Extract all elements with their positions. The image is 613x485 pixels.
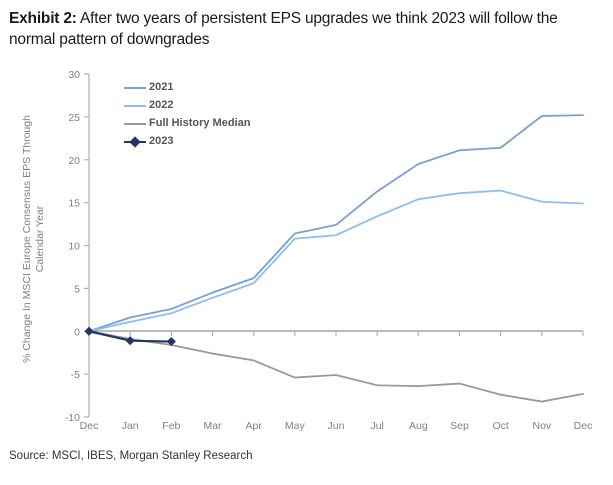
legend-label-2: Full History Median: [149, 117, 250, 129]
chart-svg: -10-5051015202530DecJanFebMarAprMayJunJu…: [0, 58, 613, 433]
legend-swatch-icon-0: [124, 82, 146, 93]
svg-text:-5: -5: [71, 369, 80, 381]
svg-text:Jun: Jun: [328, 420, 345, 432]
source-note: Source: MSCI, IBES, Morgan Stanley Resea…: [9, 450, 253, 462]
svg-text:15: 15: [68, 198, 80, 210]
svg-text:25: 25: [68, 112, 80, 124]
title-text: After two years of persistent EPS upgrad…: [9, 10, 558, 48]
legend-label-1: 2022: [149, 99, 173, 111]
svg-text:Sep: Sep: [450, 420, 469, 432]
svg-text:Oct: Oct: [492, 420, 508, 432]
svg-text:Jul: Jul: [370, 420, 383, 432]
legend-label-0: 2021: [149, 81, 173, 93]
svg-text:Feb: Feb: [162, 420, 180, 432]
svg-text:0: 0: [74, 326, 80, 338]
svg-text:Apr: Apr: [245, 420, 262, 432]
svg-text:May: May: [285, 420, 306, 432]
legend-item-1: 2022: [124, 96, 250, 114]
svg-text:Dec: Dec: [80, 420, 99, 432]
svg-text:Aug: Aug: [409, 420, 428, 432]
svg-text:20: 20: [68, 155, 80, 167]
svg-text:-10: -10: [65, 412, 80, 424]
svg-text:Jan: Jan: [122, 420, 139, 432]
chart-legend: 2021 2022 Full History Median 2023: [124, 78, 250, 150]
legend-item-0: 2021: [124, 78, 250, 96]
svg-text:30: 30: [68, 69, 80, 81]
legend-item-3: 2023: [124, 132, 250, 150]
svg-text:Mar: Mar: [203, 420, 222, 432]
chart-plot-area: % Change In MSCI Europe Consensus EPS Th…: [0, 58, 613, 433]
svg-text:5: 5: [74, 283, 80, 295]
svg-text:10: 10: [68, 241, 80, 253]
svg-text:Nov: Nov: [532, 420, 551, 432]
exhibit-label: Exhibit 2:: [9, 10, 77, 27]
svg-text:Dec: Dec: [574, 420, 593, 432]
legend-label-3: 2023: [149, 135, 173, 147]
page-title: Exhibit 2: After two years of persistent…: [9, 8, 597, 50]
legend-item-2: Full History Median: [124, 114, 250, 132]
legend-swatch-icon-2: [124, 118, 146, 129]
chart-page: Exhibit 2: After two years of persistent…: [0, 0, 613, 485]
legend-swatch-icon-1: [124, 100, 146, 111]
legend-swatch-icon-3: [124, 136, 146, 147]
